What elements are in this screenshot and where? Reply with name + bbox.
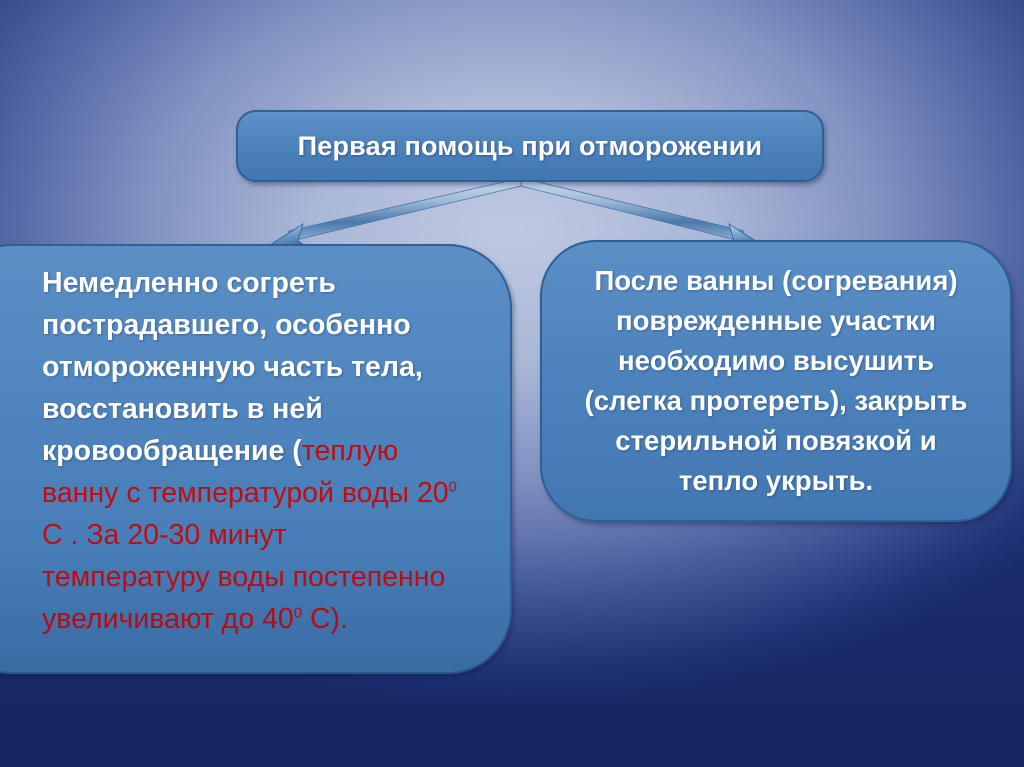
left-content-box: Немедленно согреть пострадавшего, особен…	[0, 244, 512, 674]
left-box-note-part-3: С).	[302, 603, 348, 635]
arrow-to-left-box	[262, 178, 521, 250]
left-box-note-part-2: С . За 20-30 минут температуру воды пост…	[42, 519, 445, 635]
page-title: Первая помощь при отморожении	[298, 131, 763, 162]
title-box: Первая помощь при отморожении	[236, 110, 824, 182]
left-box-text: Немедленно согреть пострадавшего, особен…	[42, 262, 462, 640]
degree-symbol-20: 0	[449, 480, 457, 496]
degree-symbol-40: 0	[294, 606, 302, 622]
slide-canvas: Первая помощь при отморожении Немедленно…	[0, 0, 1024, 767]
right-box-text: После ванны (согревания) поврежденные уч…	[576, 261, 976, 501]
right-content-box: После ванны (согревания) поврежденные уч…	[540, 240, 1012, 522]
